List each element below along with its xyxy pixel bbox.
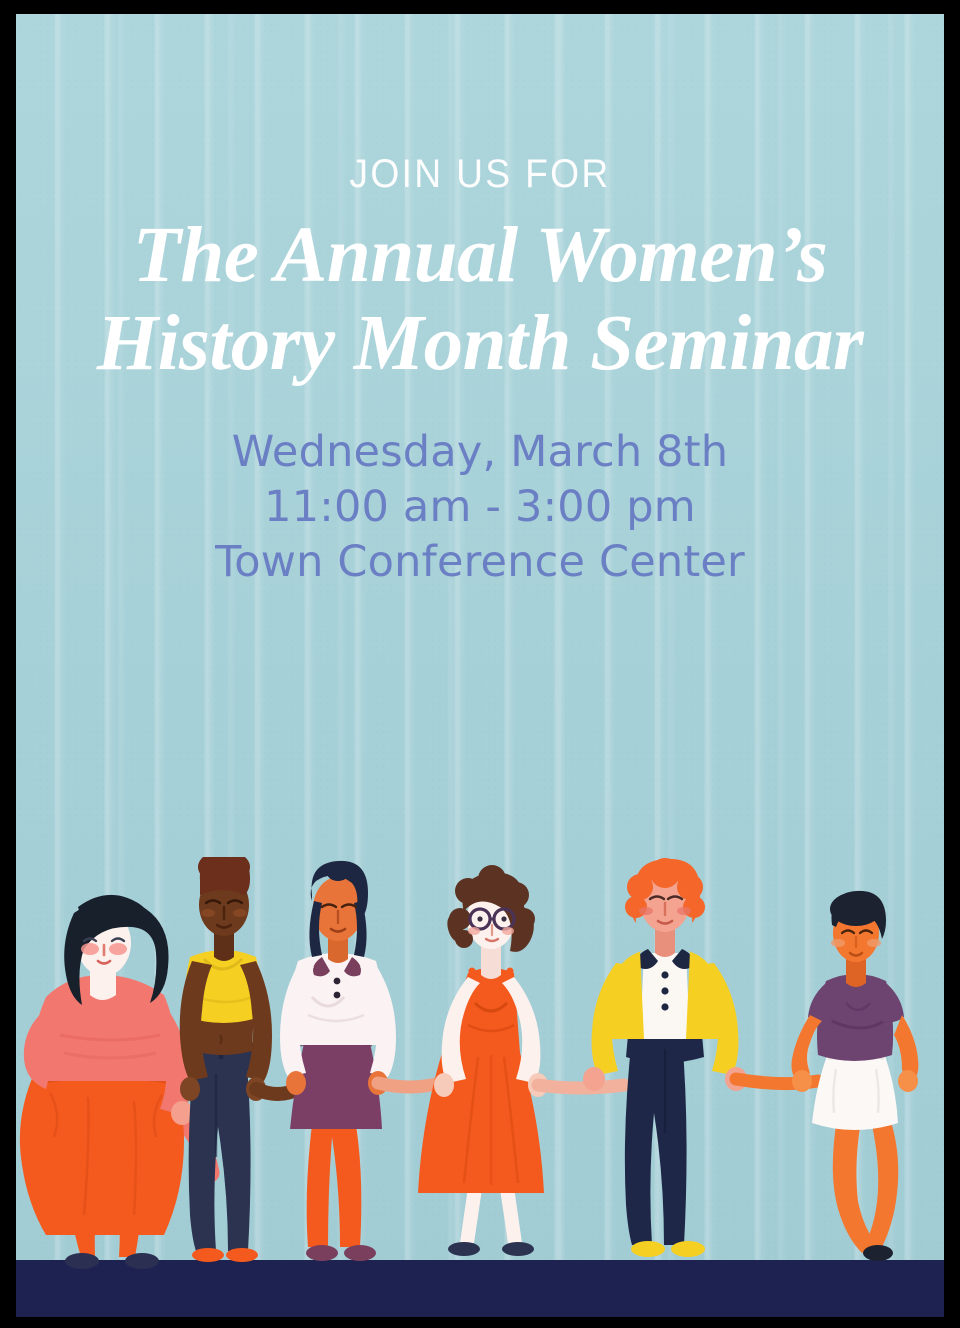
figure-2-shoe-right <box>226 1248 258 1262</box>
figure-3-shoe-right <box>344 1245 376 1261</box>
figure-5-hand-left <box>583 1067 605 1091</box>
poster-artboard: JOIN US FOR The Annual Women’s History M… <box>16 14 944 1317</box>
poster-title-line-1: The Annual Women’s <box>16 210 944 302</box>
figure-2-hand-left <box>180 1077 200 1101</box>
eyebrow-text: JOIN US FOR <box>48 14 911 194</box>
figure-3-woman-white-blouse <box>280 861 396 1261</box>
figure-6-hand-left <box>792 1070 812 1092</box>
figure-6-hand-right <box>898 1070 918 1092</box>
poster-title-line-2: History Month Seminar <box>16 298 944 390</box>
figure-6-skirt <box>812 1053 898 1130</box>
event-venue: Town Conference Center <box>16 535 944 590</box>
figure-4-shoe-left <box>448 1242 480 1256</box>
figure-4-shoe-right <box>502 1242 534 1256</box>
figure-5-shoe-right <box>671 1241 705 1257</box>
event-time: 11:00 am - 3:00 pm <box>16 480 944 535</box>
figure-4-hand-left <box>434 1073 454 1097</box>
poster-canvas: JOIN US FOR The Annual Women’s History M… <box>0 0 960 1328</box>
illustration-six-women-holding-hands <box>16 857 944 1317</box>
figure-1-shoe-right <box>125 1253 159 1269</box>
poster-text-block: JOIN US FOR The Annual Women’s History M… <box>16 14 944 590</box>
figure-6-woman-purple-tee <box>792 891 919 1261</box>
figure-3-hand-left <box>286 1071 306 1095</box>
figure-5-trousers <box>625 1037 687 1245</box>
figure-3-shoe-left <box>306 1245 338 1261</box>
figure-2-shoe-left <box>192 1248 224 1262</box>
figure-3-legs <box>307 1125 362 1247</box>
figure-5-shoe-left <box>631 1241 665 1257</box>
figure-4-woman-orange-dress <box>418 865 548 1256</box>
figure-5-woman-yellow-cardigan <box>583 858 747 1257</box>
figure-6-shoe <box>863 1245 893 1261</box>
event-date: Wednesday, March 8th <box>16 425 944 480</box>
figure-1-woman-pink-sweater <box>20 895 210 1269</box>
figure-2-woman-yellow-crop-top <box>180 857 272 1262</box>
figure-1-shoe-left <box>65 1253 99 1269</box>
